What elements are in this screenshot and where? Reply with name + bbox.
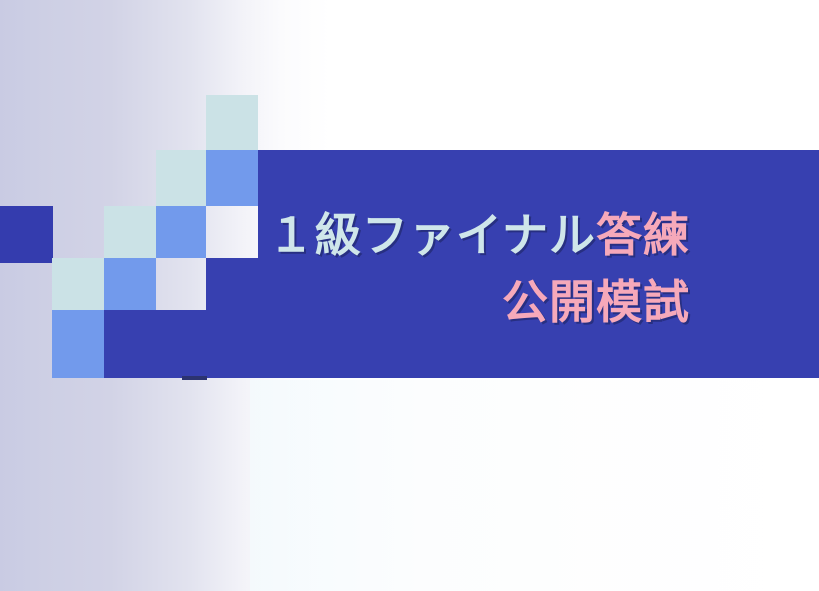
slide-title-line-1-pink: 答練 (596, 208, 690, 262)
background-tint-overlay (250, 380, 819, 591)
mosaic-square-medium-4 (52, 310, 104, 378)
slide-title-line-1: １級ファイナル答練 (150, 202, 690, 269)
mosaic-square-dark-1 (0, 206, 53, 263)
slide-title-line-2: 公開模試 (150, 269, 690, 336)
mosaic-square-medium-3 (104, 258, 156, 310)
mosaic-square-pale-2 (156, 150, 206, 206)
mosaic-square-pale-4 (52, 258, 104, 310)
banner-bottom-notch (182, 376, 207, 380)
mosaic-square-medium-1 (206, 150, 258, 206)
slide-canvas: １級ファイナル答練 公開模試 (0, 0, 819, 591)
slide-title-line-1-light: １級ファイナル (268, 208, 596, 262)
mosaic-square-pale-1 (206, 95, 258, 150)
slide-title: １級ファイナル答練 公開模試 (150, 202, 690, 335)
mosaic-square-pale-3 (104, 206, 156, 258)
